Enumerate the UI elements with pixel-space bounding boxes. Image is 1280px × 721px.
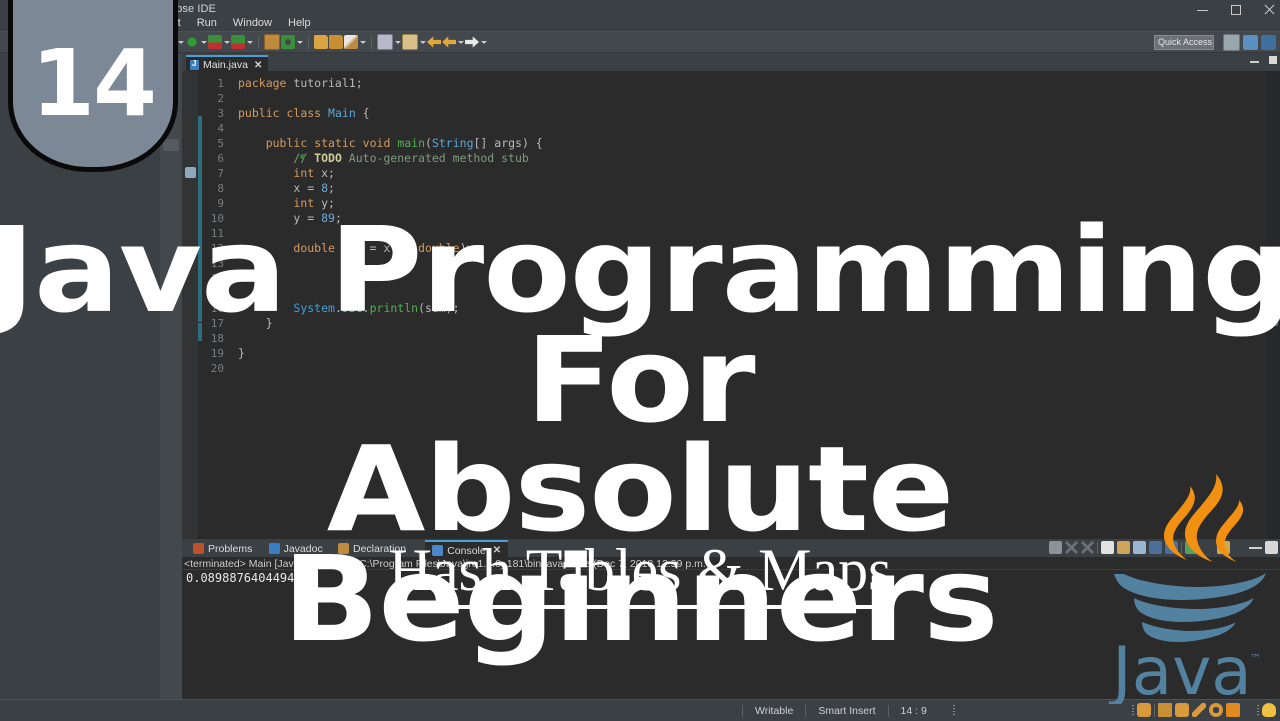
tip-icon[interactable] — [1262, 703, 1276, 717]
line-number: 4 — [217, 121, 224, 136]
run-dropdown-icon[interactable] — [200, 35, 207, 49]
video-subtitle-text: Hash Tables & Maps — [389, 537, 892, 609]
tray-separator — [1154, 704, 1155, 717]
back-icon[interactable] — [427, 35, 441, 49]
pencil-icon[interactable] — [1192, 703, 1206, 717]
line-number: 7 — [217, 166, 224, 181]
book-icon[interactable] — [1158, 703, 1172, 717]
java-steam-icon — [1164, 474, 1243, 562]
menu-item-run[interactable]: Run — [189, 17, 225, 29]
open-type-icon[interactable] — [329, 35, 343, 49]
code-line[interactable]: public static void main(String[] args) { — [238, 136, 543, 151]
status-drag-handle[interactable] — [953, 705, 955, 716]
import-dropdown-icon[interactable] — [394, 35, 401, 49]
quick-access-placeholder: Quick Access — [1155, 36, 1213, 49]
video-subtitle: Hash Tables & Maps — [0, 536, 1280, 605]
edit-dropdown-icon[interactable] — [359, 35, 366, 49]
coverage-icon[interactable] — [208, 35, 222, 49]
tray-drag-handle-2[interactable] — [1257, 705, 1259, 716]
chat-icon[interactable] — [1175, 703, 1189, 717]
toolbar-separator — [258, 36, 259, 49]
menu-item-help[interactable]: Help — [280, 17, 319, 29]
status-insert-mode: Smart Insert — [805, 705, 887, 717]
next-icon[interactable] — [465, 35, 479, 49]
window-controls — [1197, 0, 1274, 19]
editor-tab-bar: Main.java ✕ — [182, 54, 1280, 71]
video-title-line1: Java Programming For — [0, 216, 1280, 435]
coverage-dropdown-icon[interactable] — [223, 35, 230, 49]
history-dropdown-icon[interactable] — [457, 35, 464, 49]
perspective-java-icon[interactable] — [1261, 35, 1276, 50]
restore-button[interactable] — [1230, 4, 1241, 15]
open-folder-icon[interactable] — [314, 35, 328, 49]
debug-dropdown-icon[interactable] — [177, 35, 184, 49]
java-logo-tm: ™ — [1250, 652, 1261, 665]
editor-view-buttons — [1250, 56, 1278, 65]
menu-bar: ect Run Window Help — [158, 16, 319, 30]
java-cup-icon — [1114, 573, 1266, 642]
status-writable: Writable — [742, 705, 805, 717]
line-number: 3 — [217, 106, 224, 121]
feed-icon[interactable] — [1226, 703, 1240, 717]
edit-icon[interactable] — [344, 35, 358, 49]
restore-package-explorer-icon[interactable] — [163, 139, 179, 151]
code-line[interactable]: // TODO Auto-generated method stub — [238, 151, 529, 166]
next-dropdown-icon[interactable] — [480, 35, 487, 49]
tray-drag-handle[interactable] — [1132, 705, 1134, 716]
smiley-icon[interactable] — [1209, 703, 1223, 717]
episode-number: 14 — [31, 30, 155, 137]
line-number: 1 — [217, 76, 224, 91]
minimize-button[interactable] — [1197, 4, 1208, 15]
main-toolbar: Quick Access — [0, 31, 1280, 53]
breakpoint-dot-icon — [300, 154, 305, 159]
import-icon[interactable] — [377, 34, 393, 50]
menu-item-window[interactable]: Window — [225, 17, 280, 29]
line-number: 5 — [217, 136, 224, 151]
java-file-icon — [190, 60, 199, 70]
new-java-project-icon[interactable] — [264, 34, 280, 50]
run-icon[interactable] — [185, 35, 199, 49]
quick-access-input[interactable]: Quick Access — [1154, 35, 1214, 50]
line-number: 2 — [217, 91, 224, 106]
status-tray — [1118, 703, 1276, 717]
refresh-icon[interactable] — [281, 35, 295, 49]
code-line[interactable]: public class Main { — [238, 106, 370, 121]
code-line[interactable]: package tutorial1; — [238, 76, 363, 91]
perspective-java-ee-icon[interactable] — [1243, 35, 1258, 50]
maximize-editor-icon[interactable] — [1269, 56, 1278, 65]
minimize-editor-icon[interactable] — [1250, 56, 1259, 65]
heap-icon[interactable] — [1137, 703, 1151, 717]
episode-number-badge: 14 — [8, 0, 178, 172]
status-bar: Writable Smart Insert 14 : 9 — [0, 699, 1280, 721]
line-number: 6 — [217, 151, 224, 166]
close-icon[interactable]: ✕ — [254, 60, 262, 71]
toolbar-separator — [308, 36, 309, 49]
export-icon[interactable] — [402, 34, 418, 50]
code-line[interactable]: int x; — [238, 166, 335, 181]
editor-tab-label: Main.java — [203, 59, 248, 71]
java-logo-text: Java — [1108, 633, 1251, 704]
toolbar-separator — [371, 36, 372, 49]
export-dropdown-icon[interactable] — [419, 35, 426, 49]
run-external-dropdown-icon[interactable] — [246, 35, 253, 49]
refresh-dropdown-icon[interactable] — [296, 35, 303, 49]
run-external-icon[interactable] — [231, 35, 245, 49]
java-logo: Java ™ — [1098, 472, 1266, 704]
code-line[interactable]: x = 8; — [238, 181, 335, 196]
status-cursor-position: 14 : 9 — [888, 705, 939, 717]
perspective-switcher — [1223, 34, 1276, 51]
line-number: 8 — [217, 181, 224, 196]
close-button[interactable] — [1263, 4, 1274, 15]
open-perspective-icon[interactable] — [1223, 34, 1240, 51]
forward-icon[interactable] — [442, 35, 456, 49]
